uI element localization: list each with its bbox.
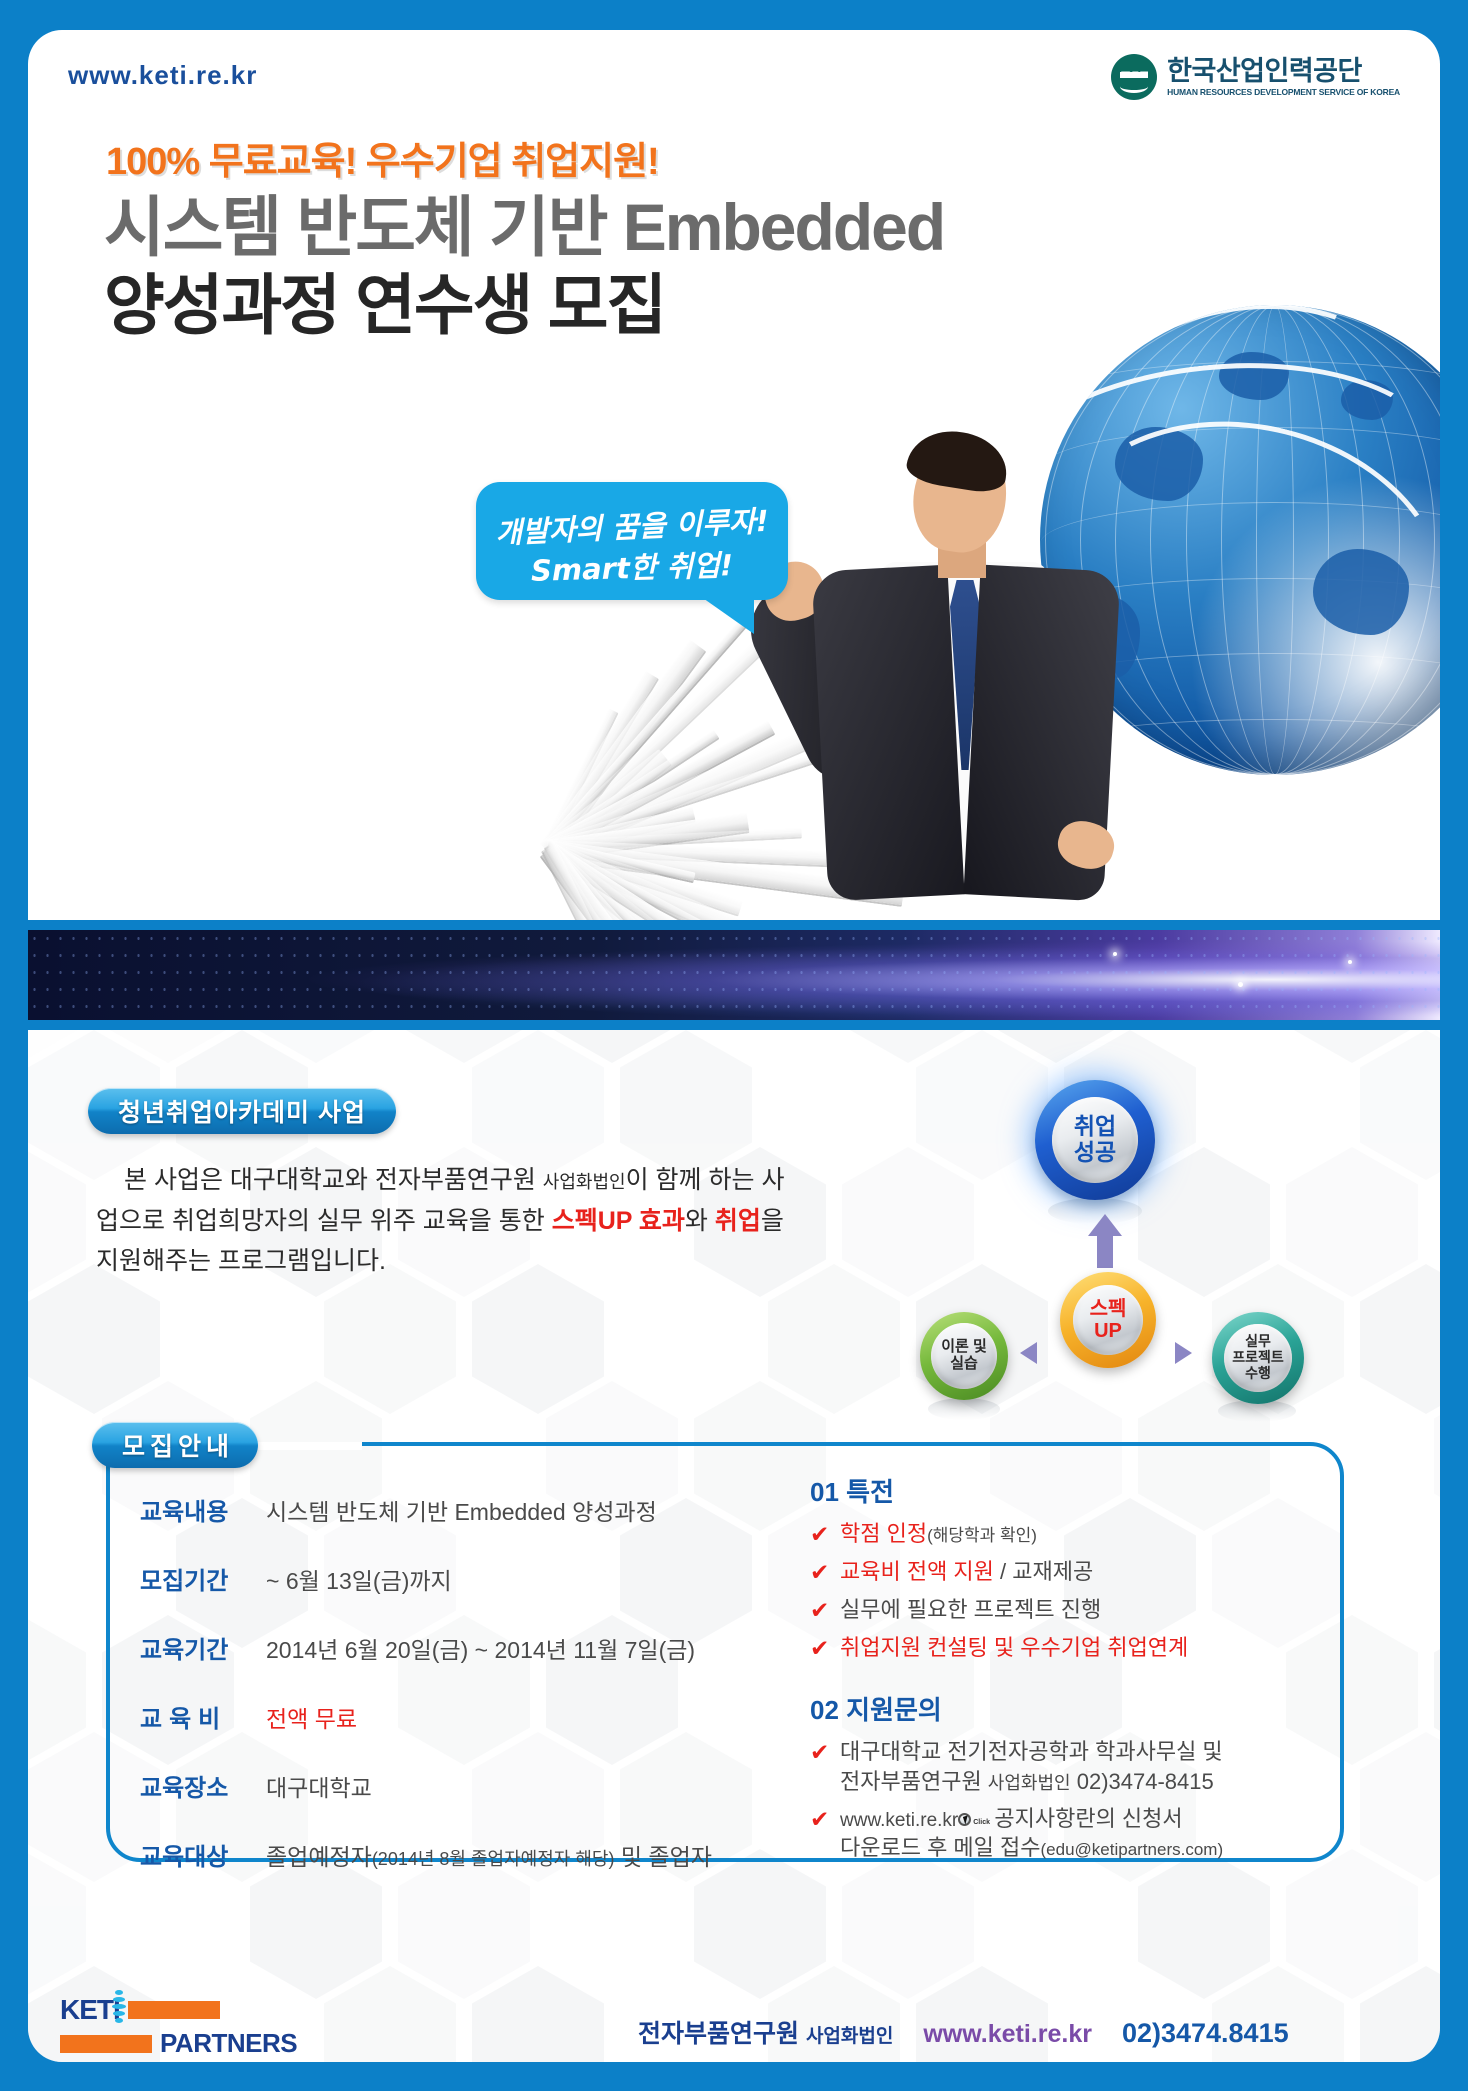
title-line-2: 양성과정 연수생 모집: [104, 252, 665, 348]
hexagon-shape: [472, 1030, 604, 1180]
contact-apply-tail: 공지사항란의 신청서: [988, 1806, 1182, 1831]
footer-org-main: 전자부품연구원: [638, 2020, 806, 2048]
benefit-item: ✔교육비 전액 지원 / 교재제공: [810, 1557, 1330, 1588]
contact-item-apply[interactable]: ✔ www.keti.re.krClick 공지사항란의 신청서 다운로드 후 …: [810, 1804, 1330, 1863]
contact-heading: 02 지원문의: [810, 1690, 1330, 1727]
info-row-label: 교육장소: [140, 1768, 266, 1803]
footer-telephone: 02)3474.8415: [1122, 2018, 1289, 2049]
keti-partners-logo: KETI PARTNERS: [60, 1988, 260, 2060]
info-row-label: 모집기간: [140, 1561, 266, 1596]
arrow-up-icon: [1088, 1214, 1122, 1236]
orb-theory-line-1: 이론 및: [941, 1339, 987, 1356]
hexagon-shape: [1360, 1264, 1440, 1414]
info-row-value: 시스템 반도체 기반 Embedded 양성과정: [266, 1493, 657, 1527]
contact-title: 지원문의: [846, 1695, 942, 1725]
speech-bubble: 개발자의 꿈을 이루자! Smart한 취업!: [476, 482, 788, 600]
academy-section-pill: 청년취업아카데미 사업: [88, 1088, 396, 1134]
benefit-item: ✔학점 인정(해당학과 확인): [810, 1519, 1330, 1550]
info-row: 교육내용시스템 반도체 기반 Embedded 양성과정: [140, 1492, 780, 1527]
star-sparkle-icon: [1113, 952, 1117, 956]
orb-success-line-1: 취업: [1074, 1114, 1116, 1140]
hexagon-shape: [472, 1264, 604, 1414]
footer-url[interactable]: www.keti.re.kr: [923, 2020, 1092, 2049]
check-icon: ✔: [810, 1595, 840, 1626]
benefit-text: 취업지원 컨설팅 및 우수기업 취업연계: [840, 1633, 1188, 1664]
benefit-text: 실무에 필요한 프로젝트 진행: [840, 1595, 1101, 1626]
info-row: 교육비전액 무료: [140, 1699, 780, 1734]
check-icon: ✔: [810, 1519, 840, 1550]
footer: KETI PARTNERS 전자부품연구원 사업화법인 www.keti.re.…: [28, 1910, 1440, 2062]
keti-dots-icon: [112, 1990, 126, 2024]
orb-practical-project: 실무 프로젝트 수행: [1212, 1312, 1304, 1404]
orb-theory-line-2: 실습: [941, 1356, 987, 1373]
hexagon-shape: [28, 1264, 160, 1414]
intro-highlight-2: 취업: [715, 1207, 761, 1235]
contact-apply-email[interactable]: (edu@ketipartners.com): [1041, 1840, 1224, 1859]
arrow-left-icon: [1175, 1342, 1192, 1364]
info-row: 교육대상졸업예정자(2014년 8월 졸업자예정자 해당) 및 졸업자: [140, 1837, 780, 1872]
recruit-section-pill: 모집안내: [92, 1422, 258, 1468]
info-row-value: 전액 무료: [266, 1700, 357, 1734]
footer-organization: 전자부품연구원 사업화법인: [638, 2014, 893, 2050]
keti-logo-text: KETI: [60, 1994, 120, 2026]
hero-panel: www.keti.re.kr 한국산업인력공단 HUMAN RESOURCES …: [28, 30, 1440, 920]
orb-spec-line-1: 스펙: [1090, 1298, 1127, 1320]
hrd-logo-korean: 한국산업인력공단: [1167, 58, 1400, 85]
benefits-list: ✔학점 인정(해당학과 확인)✔교육비 전액 지원 / 교재제공✔실무에 필요한…: [810, 1519, 1330, 1664]
contact-apply-line-2: 다운로드 후 메일 접수: [840, 1835, 1041, 1860]
footer-contact-info: 전자부품연구원 사업화법인 www.keti.re.kr 02)3474.841…: [638, 2014, 1289, 2050]
benefit-text: 학점 인정(해당학과 확인): [840, 1519, 1037, 1550]
career-flow-diagram: 취업 성공 스펙 UP 이론 및 실습 실무 프로젝트 수: [920, 1080, 1310, 1410]
right-column: 01 특전 ✔학점 인정(해당학과 확인)✔교육비 전액 지원 / 교재제공✔실…: [810, 1472, 1330, 1870]
hrd-korea-logo: 한국산업인력공단 HUMAN RESOURCES DEVELOPMENT SER…: [1111, 54, 1400, 100]
orb-spec-line-2: UP: [1090, 1320, 1127, 1342]
orb-project-line-1: 실무: [1232, 1334, 1284, 1350]
recruit-info-box: 교육내용시스템 반도체 기반 Embedded 양성과정모집기간~ 6월 13일…: [106, 1442, 1344, 1862]
intro-part-3: 와: [685, 1207, 715, 1235]
website-url[interactable]: www.keti.re.kr: [68, 60, 257, 91]
info-row-label: 교육내용: [140, 1492, 266, 1527]
info-row-value: 졸업예정자(2014년 8월 졸업자예정자 해당) 및 졸업자: [266, 1838, 712, 1872]
hexagon-shape: [620, 1030, 752, 1180]
logo-bar-bottom: [60, 2035, 152, 2053]
hrd-logo-english: HUMAN RESOURCES DEVELOPMENT SERVICE OF K…: [1167, 88, 1400, 97]
check-icon: ✔: [810, 1557, 840, 1588]
contact-office-small: 사업화법인: [988, 1773, 1071, 1793]
benefits-title: 특전: [846, 1477, 894, 1507]
arrow-right-icon: [1020, 1342, 1037, 1364]
footer-org-small: 사업화법인: [806, 2026, 893, 2047]
orb-project-line-3: 수행: [1232, 1366, 1284, 1382]
click-label: Click: [973, 1818, 990, 1827]
star-sparkle-icon: [1348, 960, 1352, 964]
intro-highlight-1: 스펙UP 효과: [552, 1207, 685, 1235]
info-row-label: 교육대상: [140, 1837, 266, 1872]
hexagon-shape: [1360, 1030, 1440, 1180]
info-row: 교육기간2014년 6월 20일(금) ~ 2014년 11월 7일(금): [140, 1630, 780, 1665]
contact-office-line-1: 대구대학교 전기전자공학과 학과사무실 및: [840, 1737, 1223, 1767]
info-row-value: 대구대학교: [266, 1769, 372, 1803]
check-icon: ✔: [810, 1737, 840, 1796]
info-row-value: ~ 6월 13일(금)까지: [266, 1562, 452, 1596]
contact-item-office: ✔ 대구대학교 전기전자공학과 학과사무실 및 전자부품연구원 사업화법인 02…: [810, 1737, 1330, 1796]
recruit-info-rows: 교육내용시스템 반도체 기반 Embedded 양성과정모집기간~ 6월 13일…: [140, 1492, 780, 1872]
orb-success-line-2: 성공: [1074, 1140, 1116, 1166]
arrow-up-stem: [1097, 1234, 1113, 1268]
orb-spec-up: 스펙 UP: [1060, 1272, 1156, 1368]
click-magnifier-icon: Click: [958, 1813, 988, 1828]
benefit-text: 교육비 전액 지원 / 교재제공: [840, 1557, 1093, 1588]
check-icon: ✔: [810, 1804, 840, 1863]
contact-office-line-2a: 전자부품연구원: [840, 1769, 988, 1794]
info-row-label: 교육기간: [140, 1630, 266, 1665]
contact-apply-url[interactable]: www.keti.re.kr: [840, 1810, 958, 1831]
orb-project-line-2: 프로젝트: [1232, 1350, 1284, 1366]
hrd-emblem-icon: [1111, 54, 1157, 100]
hexagon-shape: [324, 1264, 456, 1414]
businessman-photo: [728, 430, 1148, 920]
check-icon: ✔: [810, 1633, 840, 1664]
info-row-value: 2014년 6월 20일(금) ~ 2014년 11월 7일(금): [266, 1631, 695, 1665]
benefits-number: 01: [810, 1477, 839, 1507]
benefit-item: ✔취업지원 컨설팅 및 우수기업 취업연계: [810, 1633, 1330, 1664]
tech-banner: [28, 930, 1440, 1020]
partners-logo-text: PARTNERS: [160, 2028, 297, 2059]
contact-number: 02: [810, 1695, 839, 1725]
benefits-heading: 01 특전: [810, 1472, 1330, 1509]
logo-bar-top: [128, 2001, 220, 2019]
contact-office-phone: 02)3474-8415: [1071, 1769, 1214, 1794]
dot-matrix-pattern: [28, 930, 1440, 1020]
intro-small-1: 사업화법인: [543, 1172, 626, 1192]
hexagon-shape: [1360, 1732, 1440, 1882]
hexagon-shape: [768, 1264, 900, 1414]
info-row: 교육장소대구대학교: [140, 1768, 780, 1803]
orb-employment-success: 취업 성공: [1035, 1080, 1155, 1200]
info-row: 모집기간~ 6월 13일(금)까지: [140, 1561, 780, 1596]
benefit-item: ✔실무에 필요한 프로젝트 진행: [810, 1595, 1330, 1626]
academy-intro-text: 본 사업은 대구대학교와 전자부품연구원 사업화법인이 함께 하는 사업으로 취…: [96, 1160, 796, 1282]
orb-theory-practice: 이론 및 실습: [920, 1312, 1008, 1400]
info-row-label: 교육비: [140, 1699, 266, 1734]
speech-bubble-line-2: Smart한 취업!: [475, 541, 788, 592]
intro-part-1: 본 사업은 대구대학교와 전자부품연구원: [96, 1166, 543, 1194]
star-sparkle-icon: [1238, 982, 1243, 987]
